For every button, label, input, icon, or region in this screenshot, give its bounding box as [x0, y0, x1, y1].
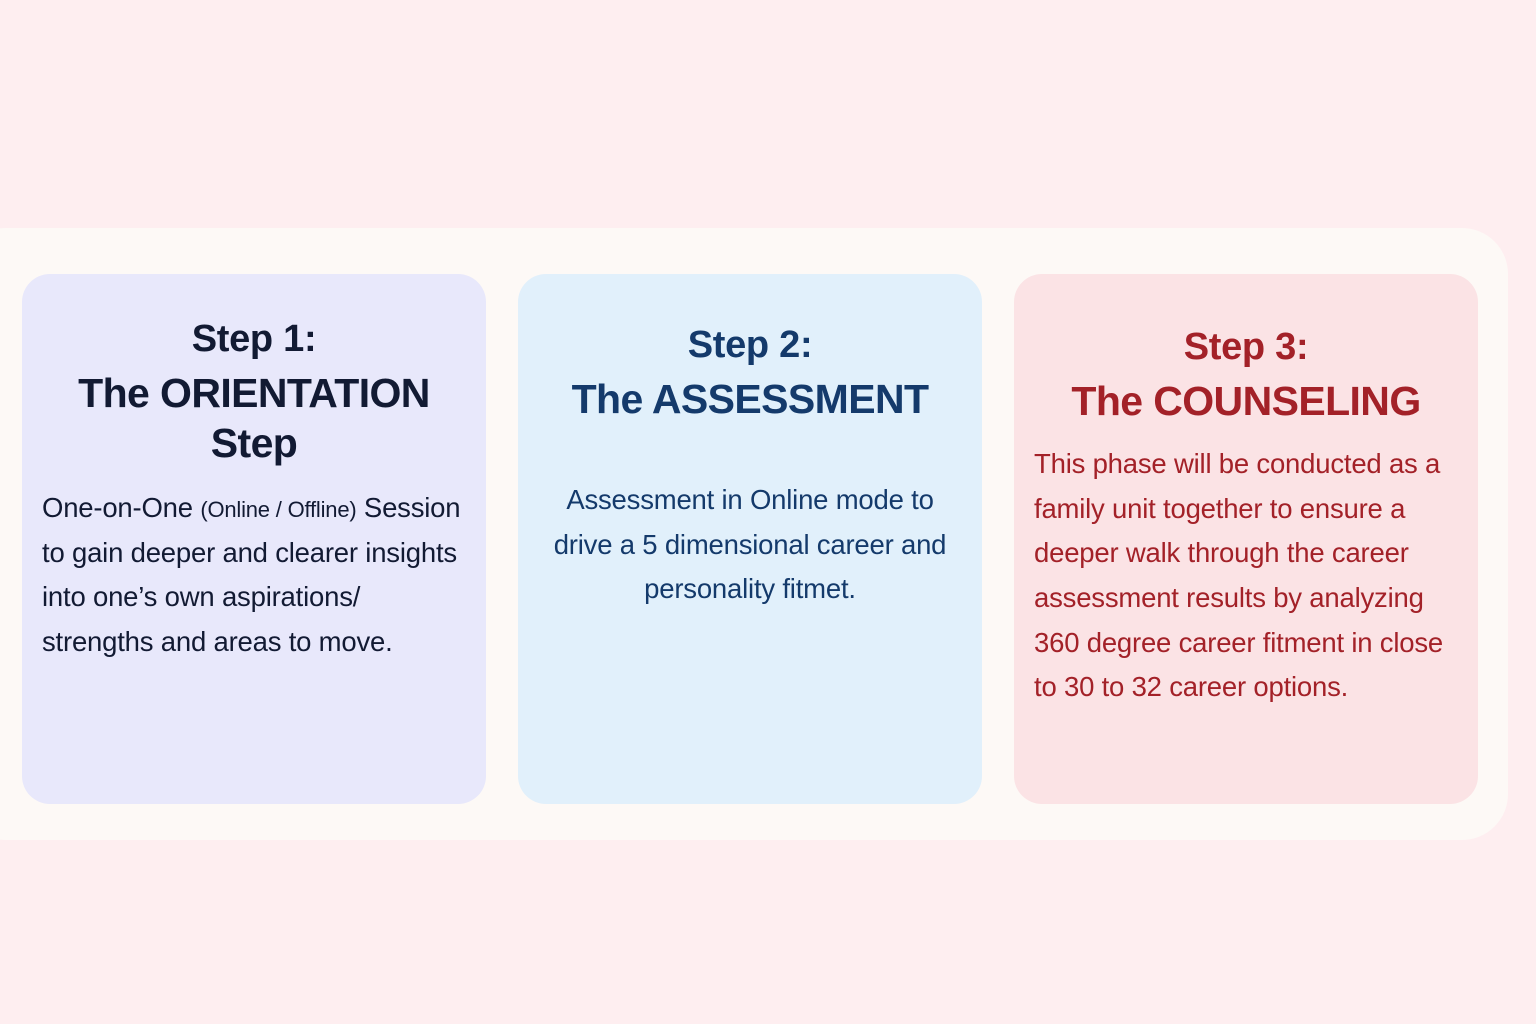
step-card-label: Step 1: [42, 316, 466, 362]
step-card-label: Step 2: [538, 322, 962, 368]
step-card-body: This phase will be conducted as a family… [1034, 442, 1458, 709]
step-card-orientation[interactable]: Step 1: The ORIENTATION Step One-on-One … [22, 274, 486, 804]
step-card-title: The ORIENTATION Step [42, 368, 466, 468]
page-root: Step 1: The ORIENTATION Step One-on-One … [0, 0, 1536, 1024]
step-card-body: Assessment in Online mode to drive a 5 d… [538, 478, 962, 612]
step-card-label: Step 3: [1034, 324, 1458, 370]
step-card-title: The COUNSELING [1034, 376, 1458, 426]
step-card-body-note: (Online / Offline) [200, 497, 356, 522]
step-card-title: The ASSESSMENT [538, 374, 962, 424]
step-card-assessment[interactable]: Step 2: The ASSESSMENT Assessment in Onl… [518, 274, 982, 804]
step-card-body: One-on-One (Online / Offline) Session to… [42, 486, 466, 664]
step-card-body-lead: One-on-One [42, 492, 200, 523]
step-card-counseling[interactable]: Step 3: The COUNSELING This phase will b… [1014, 274, 1478, 804]
steps-card-row: Step 1: The ORIENTATION Step One-on-One … [22, 274, 1478, 804]
